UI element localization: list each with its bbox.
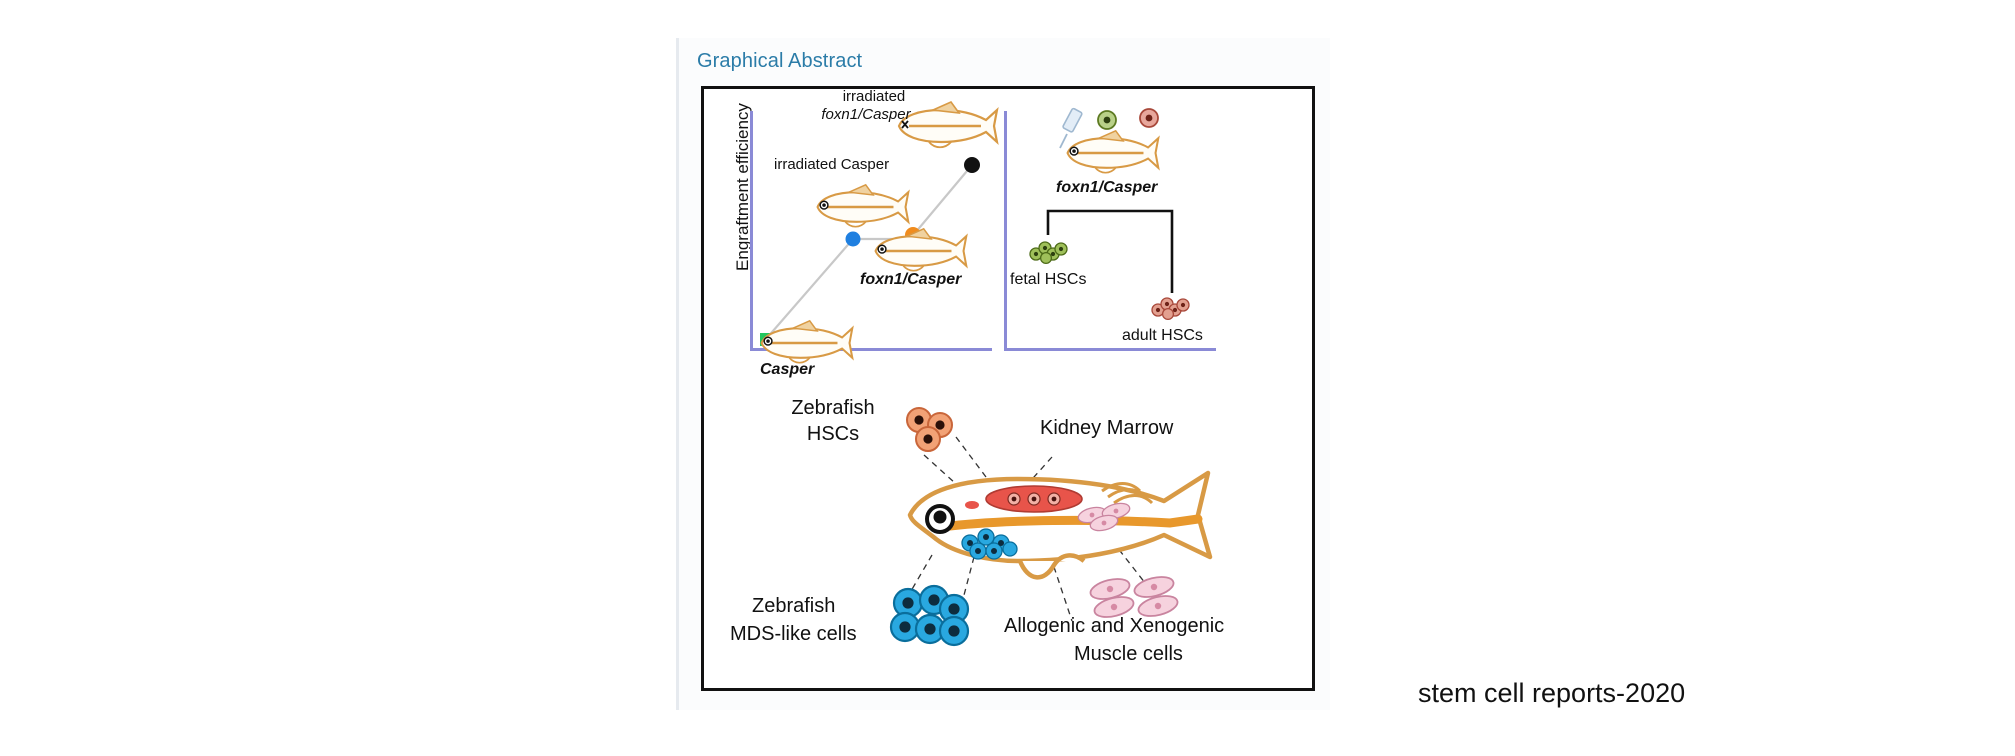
panel-hsc-source: foxn1/Casper: [1004, 111, 1216, 351]
page-title: Graphical Abstract: [697, 50, 862, 73]
data-point-irradiated-casper: [846, 232, 861, 247]
label-muscle-line2: Muscle cells: [1074, 643, 1254, 665]
fish-icon-foxn1-casper: [870, 231, 970, 271]
label-adult-hscs: adult HSCs: [1122, 327, 1203, 345]
fish-icon-irradiated-casper: [812, 187, 912, 227]
label-irradiated-casper-italic: Casper: [841, 156, 889, 173]
label-irradiated-foxn1-line2: foxn1/Casper: [786, 107, 946, 124]
screenshot-root: Graphical Abstract Engraftment efficienc…: [0, 0, 2015, 756]
cell-icon-fetal-single: [1096, 109, 1118, 131]
figure-frame: Engraftment efficiency: [701, 86, 1315, 691]
source-caption: stem cell reports-2020: [1418, 678, 1685, 709]
label-mds-line1: Zebrafish: [752, 595, 912, 617]
label-kidney-marrow: Kidney Marrow: [1040, 417, 1240, 439]
fish-icon-casper: [756, 323, 856, 363]
label-irradiated-foxn1-line1: irradiated: [794, 89, 954, 106]
label-muscle-line1: Allogenic and Xenogenic: [1004, 615, 1304, 637]
figure-bottom-half: Zebrafish HSCs Kidney Marrow Zebrafish M…: [704, 375, 1312, 688]
zebrafish-body-diagram: [902, 457, 1232, 589]
fish-icon-foxn1-casper-recipient: [1062, 133, 1162, 173]
label-mds-line2: MDS-like cells: [730, 623, 930, 645]
label-foxn1-casper: foxn1/Casper: [860, 271, 961, 289]
x-axis-line-right: [1004, 348, 1216, 351]
cell-cluster-adult-hscs: [1150, 295, 1192, 321]
label-zebrafish-hscs-line2: HSCs: [758, 423, 908, 445]
label-irradiated-casper-plain: irradiated: [774, 156, 841, 173]
panel-engraftment-plot: irradiated foxn1/Casper irradiated Caspe…: [750, 111, 992, 351]
label-fetal-hscs: fetal HSCs: [1010, 271, 1086, 289]
label-zebrafish-hscs-line1: Zebrafish: [758, 397, 908, 419]
cell-icon-adult-single: [1138, 107, 1160, 129]
figure-top-half: Engraftment efficiency: [704, 89, 1312, 375]
cell-cluster-zebrafish-hscs: [902, 405, 958, 453]
label-irradiated-casper: irradiated Casper: [774, 157, 889, 174]
data-point-irradiated-foxn1-casper: [964, 157, 980, 173]
cell-cluster-fetal-hscs: [1028, 239, 1070, 265]
y-axis-line-right: [1004, 111, 1007, 351]
graphical-abstract-card: Graphical Abstract Engraftment efficienc…: [676, 38, 1330, 710]
label-foxn1-casper-recipient: foxn1/Casper: [1056, 179, 1157, 197]
